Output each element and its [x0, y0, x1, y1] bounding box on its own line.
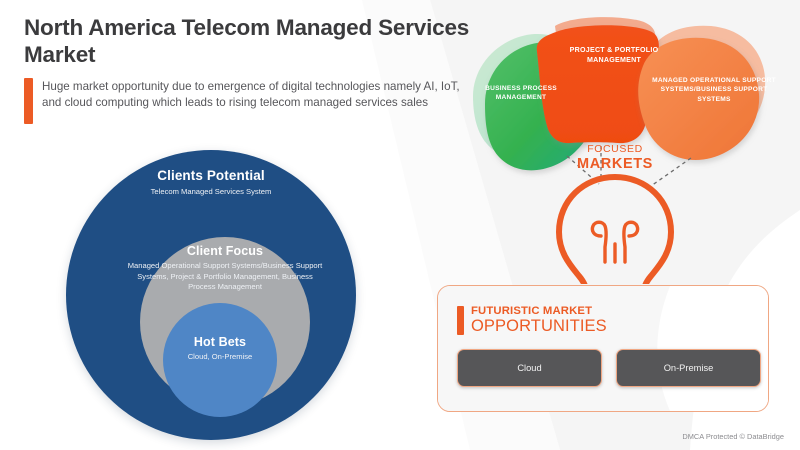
- futuristic-title-line1: FUTURISTIC MARKET: [471, 306, 607, 317]
- petal-label-business-process-management: BUSINESS PROCESS MANAGEMENT: [467, 84, 575, 103]
- label-hot-bets: Hot Bets Cloud, On-Premise: [155, 335, 285, 363]
- accent-bar: [24, 78, 33, 124]
- infographic-canvas: North America Telecom Managed Services M…: [0, 0, 800, 450]
- focused-markets-cluster: BUSINESS PROCESS MANAGEMENT PROJECT & PO…: [455, 4, 800, 284]
- footer-credit: DMCA Protected © DataBridge: [682, 432, 784, 441]
- client-focus-subtitle: Managed Operational Support Systems/Busi…: [125, 261, 325, 292]
- futuristic-title-line2: OPPORTUNITIES: [471, 318, 607, 335]
- client-focus-title: Client Focus: [125, 244, 325, 258]
- bulb-label-line1: FOCUSED: [567, 144, 663, 156]
- clients-potential-title: Clients Potential: [66, 168, 356, 184]
- opportunity-button-on-premise[interactable]: On-Premise: [616, 349, 761, 387]
- opportunity-buttons: Cloud On-Premise: [457, 349, 761, 387]
- label-client-focus: Client Focus Managed Operational Support…: [125, 244, 325, 292]
- page-subtitle: Huge market opportunity due to emergence…: [42, 78, 460, 124]
- panel-accent-bar: [457, 306, 464, 335]
- hot-bets-title: Hot Bets: [155, 335, 285, 349]
- bulb-label: FOCUSED MARKETS: [567, 144, 663, 172]
- subtitle-block: Huge market opportunity due to emergence…: [24, 78, 474, 124]
- futuristic-market-opportunities-panel: FUTURISTIC MARKET OPPORTUNITIES Cloud On…: [437, 285, 769, 412]
- bulb-label-line2: MARKETS: [567, 156, 663, 172]
- label-clients-potential: Clients Potential Telecom Managed Servic…: [66, 168, 356, 197]
- light-bulb-icon: [559, 177, 671, 284]
- futuristic-market-heading: FUTURISTIC MARKET OPPORTUNITIES: [457, 306, 607, 335]
- clients-potential-subtitle: Telecom Managed Services System: [66, 187, 356, 197]
- header: North America Telecom Managed Services M…: [24, 14, 474, 124]
- page-title: North America Telecom Managed Services M…: [24, 14, 474, 69]
- petal-label-project-portfolio-management: PROJECT & PORTFOLIO MANAGEMENT: [562, 45, 666, 65]
- petal-label-managed-operational-support: MANAGED OPERATIONAL SUPPORT SYSTEMS/BUSI…: [651, 76, 777, 104]
- hot-bets-subtitle: Cloud, On-Premise: [155, 352, 285, 362]
- opportunity-button-cloud[interactable]: Cloud: [457, 349, 602, 387]
